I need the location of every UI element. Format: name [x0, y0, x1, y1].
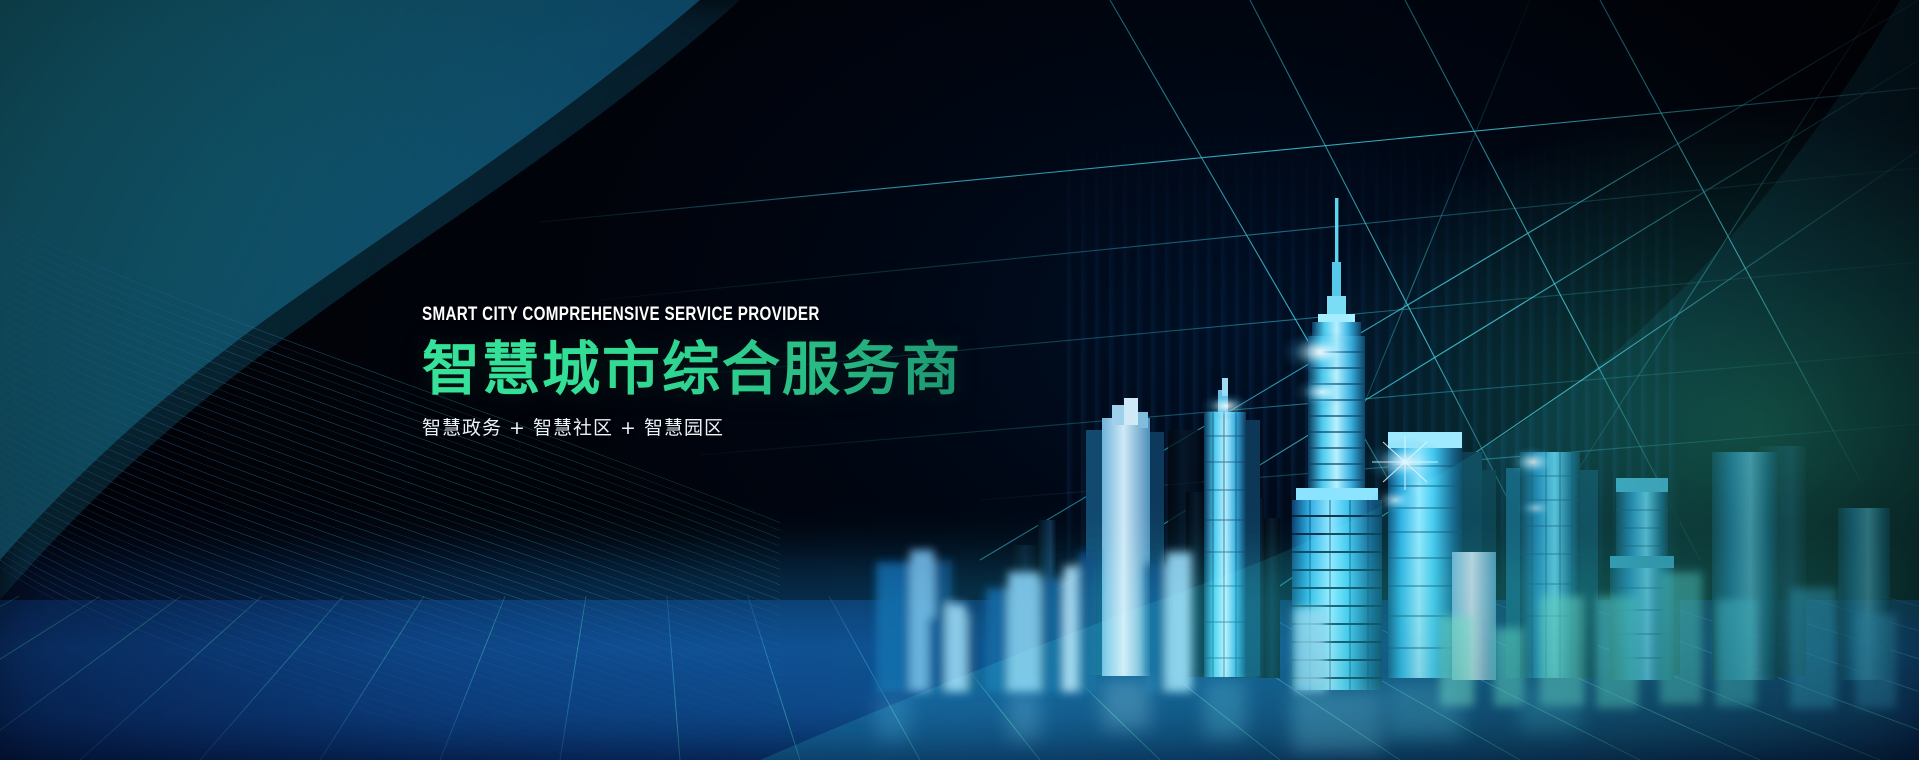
hero-main-title: 智慧城市综合服务商	[422, 337, 1082, 401]
hero-eyebrow-english: SMART CITY COMPREHENSIVE SERVICE PROVIDE…	[422, 304, 950, 326]
hero-banner: SMART CITY COMPREHENSIVE SERVICE PROVIDE…	[0, 0, 1919, 760]
hero-text-block: SMART CITY COMPREHENSIVE SERVICE PROVIDE…	[422, 304, 1082, 441]
hero-subtitle: 智慧政务 + 智慧社区 + 智慧园区	[422, 415, 1082, 441]
